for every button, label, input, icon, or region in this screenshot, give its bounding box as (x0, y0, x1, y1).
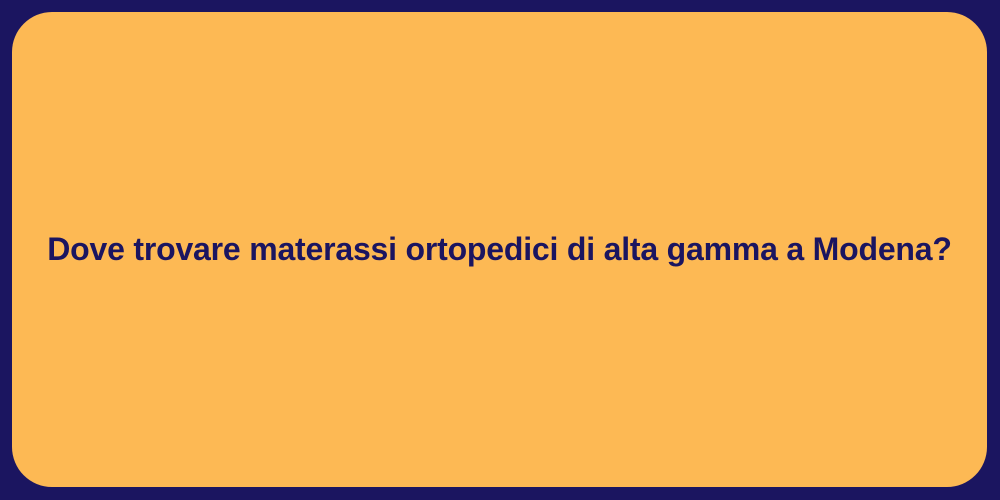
page-title: Dove trovare materassi ortopedici di alt… (23, 229, 975, 269)
banner-card: Dove trovare materassi ortopedici di alt… (12, 12, 987, 487)
banner-frame: Dove trovare materassi ortopedici di alt… (0, 0, 1000, 500)
